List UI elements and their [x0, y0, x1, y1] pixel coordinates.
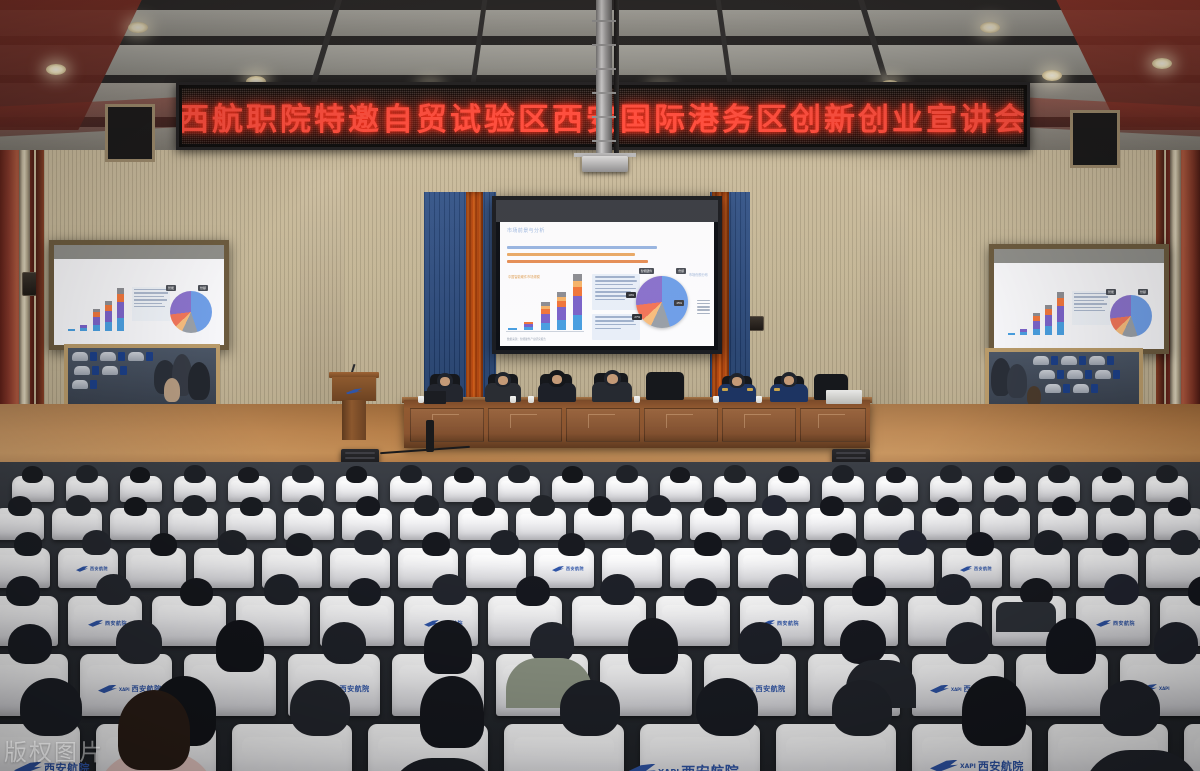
pie-label-3: 10% — [626, 292, 636, 298]
audience-head-long-hair — [118, 690, 190, 770]
side-note-left — [132, 287, 170, 321]
audience-head — [830, 533, 857, 556]
audience-head — [1168, 497, 1191, 516]
copyright-watermark: 版权图片 — [4, 733, 104, 767]
ceiling-downlight — [1152, 58, 1172, 69]
audience-head — [472, 497, 495, 516]
bar-2016 — [557, 292, 566, 330]
audience-head — [182, 495, 207, 516]
audience-head — [150, 533, 177, 556]
audience-head — [940, 465, 962, 483]
audience-head-long-hair — [424, 620, 472, 674]
side-slide-right: 智能 份额 — [994, 249, 1164, 349]
audience-head — [898, 530, 927, 555]
audience-head — [292, 465, 314, 483]
audience-head — [1102, 533, 1129, 556]
audience-head — [724, 465, 746, 483]
side-bar-chart-left — [68, 287, 124, 331]
audience-head — [356, 496, 380, 516]
bar-chart-footnote: 数据来源：智能硬件产业研究报告 — [507, 337, 546, 341]
bar-2014 — [524, 322, 533, 330]
bar-2017 — [573, 274, 582, 330]
side-bar-chart-right — [1008, 291, 1064, 335]
panelist-face — [498, 376, 508, 385]
podium-base — [342, 400, 366, 440]
head-table-chair-empty — [646, 372, 684, 400]
water-cup — [756, 396, 762, 403]
audience-head — [832, 465, 854, 483]
audience-head — [832, 680, 892, 736]
audience-head — [20, 678, 82, 736]
audience-head — [76, 465, 98, 483]
side-note-right — [1072, 291, 1110, 325]
bar-chart-axis — [506, 331, 584, 332]
audience-head — [994, 466, 1015, 483]
audience-head-long-hair — [1046, 618, 1096, 674]
audience-head — [1154, 622, 1198, 664]
audience-head — [562, 466, 583, 483]
panelist-face — [607, 374, 618, 384]
audience-head — [994, 495, 1019, 516]
audience-head — [96, 574, 131, 605]
audience-shoulders — [996, 602, 1056, 632]
audience-head — [558, 533, 585, 556]
panelist-face — [784, 376, 794, 385]
audience-head — [936, 497, 959, 516]
side-pie-chart-left — [170, 291, 212, 333]
water-cup — [713, 396, 719, 403]
side-tag-left-b: 份额 — [198, 285, 208, 291]
audience-head — [696, 678, 758, 736]
ceiling-downlight — [128, 22, 148, 33]
audience-head — [878, 495, 903, 516]
audience-head — [1100, 680, 1160, 736]
panelist-face — [732, 377, 742, 386]
audience-head — [1110, 495, 1135, 516]
wall-panel-left — [105, 104, 155, 162]
audience-head — [966, 532, 994, 556]
floor-cable — [426, 420, 434, 452]
panelist-face — [552, 375, 562, 384]
ceiling-projector — [582, 156, 628, 172]
audience-head-long-hair — [216, 620, 264, 672]
stage-curtain-left — [466, 192, 483, 410]
audience-head — [322, 622, 366, 664]
audience-head — [348, 578, 381, 606]
laptop[interactable] — [424, 391, 446, 404]
side-tag-right-b: 份额 — [1138, 289, 1148, 295]
audience-head — [886, 467, 906, 483]
audience-head — [646, 495, 671, 516]
audience-head — [22, 466, 43, 483]
audience-head — [1102, 467, 1122, 483]
audience-head — [936, 574, 971, 605]
printer-device — [826, 390, 862, 404]
presentation-slide: 市场前景与分析 中国智能硬件市场规模 — [500, 222, 714, 346]
audience-head — [290, 680, 350, 736]
audience-head — [116, 620, 162, 664]
audience-head — [354, 530, 383, 555]
side-tag-right-a: 智能 — [1106, 289, 1116, 295]
ceiling-downlight — [1042, 70, 1062, 81]
audience-head — [1052, 496, 1076, 516]
audience-head — [704, 497, 727, 516]
ceiling-downlight — [46, 64, 66, 75]
water-cup — [510, 396, 516, 403]
audience-head — [130, 467, 150, 483]
audience-head — [694, 532, 722, 556]
panelist-face — [440, 377, 450, 386]
audience-head — [184, 465, 206, 483]
audience-head — [508, 465, 530, 483]
audience-head — [238, 467, 259, 483]
audience-head — [852, 576, 886, 606]
audience-head-long-hair — [962, 676, 1026, 746]
main-projection-screen: 市场前景与分析 中国智能硬件市场规模 — [492, 196, 722, 354]
audience-head — [66, 495, 91, 516]
audience-head — [560, 680, 620, 736]
audience-head — [626, 530, 655, 555]
projector-cable — [614, 0, 619, 158]
bar-chart — [508, 268, 582, 330]
water-cup — [634, 396, 640, 403]
audience-head — [218, 530, 247, 555]
audience-head — [516, 576, 550, 606]
side-screen-rail-right — [994, 249, 1164, 263]
pie-legend — [697, 298, 710, 316]
side-slide-left: 智能 份额 — [54, 245, 224, 345]
audience-head — [762, 495, 787, 516]
audience-head — [946, 622, 990, 664]
pie-label-1: 45% — [674, 300, 684, 306]
audience-head — [1048, 465, 1070, 483]
audience-head — [490, 530, 519, 555]
screen-top-rail — [496, 200, 718, 222]
audience-head — [530, 495, 555, 516]
audience-head-long-hair — [628, 618, 678, 674]
audience-head — [738, 622, 782, 664]
audience-head — [670, 467, 690, 483]
audience-head — [588, 496, 612, 516]
pie-tag-a: 智能硬件 — [639, 268, 654, 274]
audience-head — [768, 574, 803, 605]
audience-head — [286, 533, 313, 556]
audience-head — [82, 530, 111, 555]
audience-head — [180, 578, 213, 606]
audience-head-long-hair — [420, 676, 484, 748]
mirror-window-right — [985, 348, 1143, 412]
side-screen-rail-left — [54, 245, 224, 259]
pie-label-2: 27% — [632, 314, 642, 320]
bar-2013 — [508, 328, 517, 330]
audience-head — [840, 620, 886, 664]
audience-area: 西安航院 西安航院 西安航院 — [0, 462, 1200, 771]
audience-head — [8, 624, 52, 664]
audience-head — [1104, 574, 1139, 605]
audience-head — [124, 497, 147, 516]
audience-head — [1156, 465, 1178, 483]
audience-head — [1170, 530, 1199, 555]
audience-head — [600, 574, 635, 605]
podium-emblem-icon — [345, 382, 363, 389]
wall-speaker-box-right — [748, 316, 764, 331]
projector-lift-mast — [596, 0, 612, 158]
audience-head — [8, 496, 32, 516]
audience-head — [14, 532, 42, 556]
pie-chart-title: 市场份额分布 — [689, 272, 708, 277]
audience-head — [684, 578, 717, 606]
ceiling-downlight — [980, 22, 1000, 33]
side-pie-chart-right — [1110, 295, 1152, 337]
mirror-window-left — [64, 344, 220, 408]
side-tag-left-a: 智能 — [166, 285, 176, 291]
head-table — [404, 400, 870, 448]
bar-2015 — [541, 302, 550, 330]
water-cup — [418, 396, 424, 403]
audience-head — [762, 530, 791, 555]
audience-head — [346, 466, 367, 483]
audience-head — [1034, 530, 1063, 555]
pie-tag-b: 份额 — [676, 268, 686, 274]
audience-head — [432, 574, 467, 605]
audience-head — [400, 465, 422, 483]
side-projection-screen-right: 智能 份额 — [989, 244, 1169, 354]
audience-head — [240, 497, 263, 516]
auditorium-photo: 西航职院特邀自贸试验区西安国际港务区创新创业宣讲会 市场前景与分析 中国智能硬件… — [0, 0, 1200, 771]
audience-head — [778, 466, 799, 483]
audience-head — [616, 465, 638, 483]
audience-head — [264, 574, 299, 605]
audience-head — [422, 532, 450, 556]
audience-head — [414, 495, 439, 516]
audience-head — [6, 576, 40, 606]
wall-control-box-left[interactable] — [22, 272, 37, 296]
audience-head — [298, 495, 323, 516]
slide-heading: 市场前景与分析 — [507, 227, 545, 234]
wall-panel-right — [1070, 110, 1120, 168]
audience-head — [454, 467, 474, 483]
side-projection-screen-left: 智能 份额 — [49, 240, 229, 350]
audience-head — [820, 496, 844, 516]
water-cup — [528, 396, 534, 403]
